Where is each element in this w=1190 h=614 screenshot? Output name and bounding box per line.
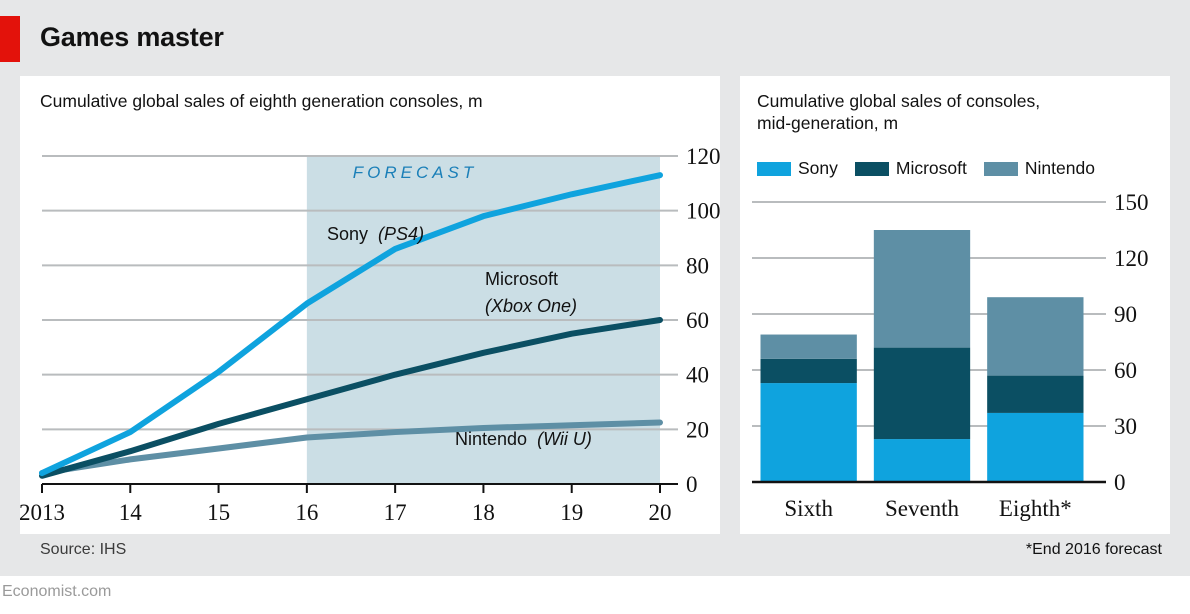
right-y-tick-150: 150 <box>1114 190 1149 215</box>
category-label-eighth: Eighth* <box>999 496 1072 521</box>
bar-segment-seventh-nintendo <box>874 230 970 348</box>
right-y-tick-0: 0 <box>1114 470 1126 495</box>
bar-segment-eighth-microsoft <box>987 376 1083 413</box>
legend-item-sony: Sony <box>757 158 838 179</box>
right-subtitle-line-2: mid-generation, m <box>757 112 1157 134</box>
forecast-annotation: FORECAST <box>353 163 478 182</box>
left-y-axis-labels: 020406080100120 <box>686 144 720 497</box>
category-label-seventh: Seventh <box>885 496 960 521</box>
right-y-tick-120: 120 <box>1114 246 1149 271</box>
left-x-axis-labels: 201314151617181920 <box>20 500 672 525</box>
series-label-nintendo-name: Nintendo <box>455 429 527 449</box>
x-tick-17: 17 <box>384 500 407 525</box>
x-tick-18: 18 <box>472 500 495 525</box>
bottom-bar <box>0 576 1190 614</box>
y-tick-0: 0 <box>686 472 698 497</box>
x-tick-15: 15 <box>207 500 230 525</box>
legend-label-microsoft: Microsoft <box>896 158 967 179</box>
x-tick-2013: 2013 <box>20 500 65 525</box>
series-label-nintendo: Nintendo (Wii U) <box>455 429 592 449</box>
source-note: Source: IHS <box>40 541 126 559</box>
bar-segment-eighth-sony <box>987 413 1083 482</box>
right-y-tick-90: 90 <box>1114 302 1137 327</box>
legend-swatch-microsoft <box>855 162 889 176</box>
y-tick-80: 80 <box>686 253 709 278</box>
right-bars <box>761 230 1084 482</box>
right-chart-subtitle: Cumulative global sales of consoles, mid… <box>757 90 1157 134</box>
bar-segment-sixth-sony <box>761 383 857 482</box>
bar-segment-eighth-nintendo <box>987 297 1083 375</box>
y-tick-20: 20 <box>686 417 709 442</box>
series-label-sony-name: Sony <box>327 224 368 244</box>
series-label-microsoft: Microsoft <box>485 269 558 289</box>
economist-com-label: Economist.com <box>2 583 111 601</box>
legend-item-microsoft: Microsoft <box>855 158 967 179</box>
bar-segment-sixth-microsoft <box>761 359 857 383</box>
left-axis-line <box>42 484 678 493</box>
header-bar: Games master <box>0 0 1190 76</box>
right-category-labels: SixthSeventhEighth* <box>784 496 1071 521</box>
legend-swatch-nintendo <box>984 162 1018 176</box>
series-label-sony-model: (PS4) <box>378 224 424 244</box>
category-label-sixth: Sixth <box>784 496 833 521</box>
series-label-microsoft-model: (Xbox One) <box>485 296 577 316</box>
legend-label-sony: Sony <box>798 158 838 179</box>
series-label-nintendo-model: (Wii U) <box>537 429 592 449</box>
right-y-tick-60: 60 <box>1114 358 1137 383</box>
right-subtitle-line-1: Cumulative global sales of consoles, <box>757 90 1157 112</box>
legend-item-nintendo: Nintendo <box>984 158 1095 179</box>
y-tick-100: 100 <box>686 199 720 224</box>
x-tick-20: 20 <box>649 500 672 525</box>
right-y-tick-30: 30 <box>1114 414 1137 439</box>
y-tick-40: 40 <box>686 363 709 388</box>
x-tick-19: 19 <box>560 500 583 525</box>
legend-swatch-sony <box>757 162 791 176</box>
footnote-note: *End 2016 forecast <box>1026 541 1162 559</box>
right-chart-legend: Sony Microsoft Nintendo <box>757 158 1112 179</box>
page-title: Games master <box>40 22 224 53</box>
y-tick-60: 60 <box>686 308 709 333</box>
bar-segment-seventh-sony <box>874 439 970 482</box>
legend-label-nintendo: Nintendo <box>1025 158 1095 179</box>
stacked-bar-chart-generations: 0306090120150 SixthSeventhEighth* <box>740 180 1170 530</box>
x-tick-16: 16 <box>295 500 318 525</box>
bar-segment-seventh-microsoft <box>874 348 970 439</box>
right-y-axis-labels: 0306090120150 <box>1114 190 1149 495</box>
y-tick-120: 120 <box>686 144 720 169</box>
x-tick-14: 14 <box>119 500 143 525</box>
left-chart-subtitle: Cumulative global sales of eighth genera… <box>40 90 700 112</box>
bar-segment-sixth-nintendo <box>761 335 857 359</box>
line-chart-eighth-generation: 020406080100120 201314151617181920 FOREC… <box>20 120 720 540</box>
economist-red-tab <box>0 16 20 62</box>
